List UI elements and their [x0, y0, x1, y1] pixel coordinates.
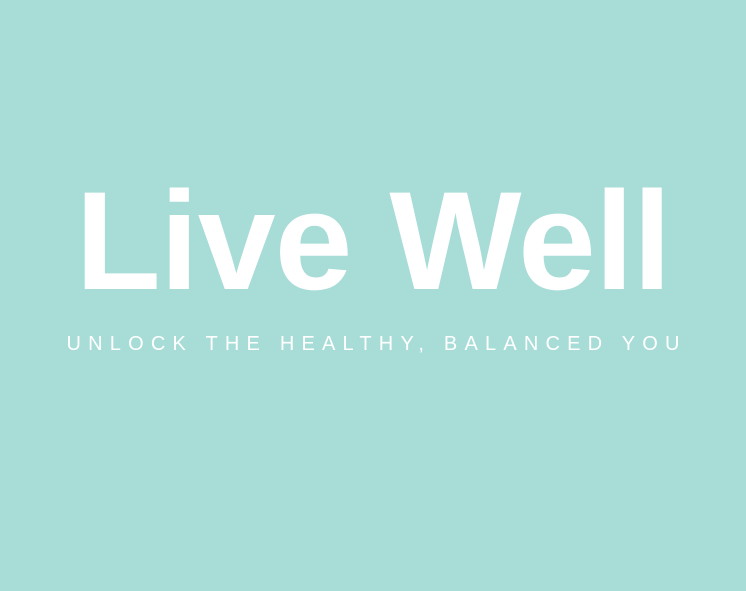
poster-canvas: Live Well UNLOCK THE HEALTHY, BALANCED Y… [0, 0, 746, 591]
poster-content-block: Live Well UNLOCK THE HEALTHY, BALANCED Y… [0, 0, 746, 354]
poster-tagline: UNLOCK THE HEALTHY, BALANCED YOU [0, 334, 746, 354]
page-title: Live Well [0, 171, 746, 311]
